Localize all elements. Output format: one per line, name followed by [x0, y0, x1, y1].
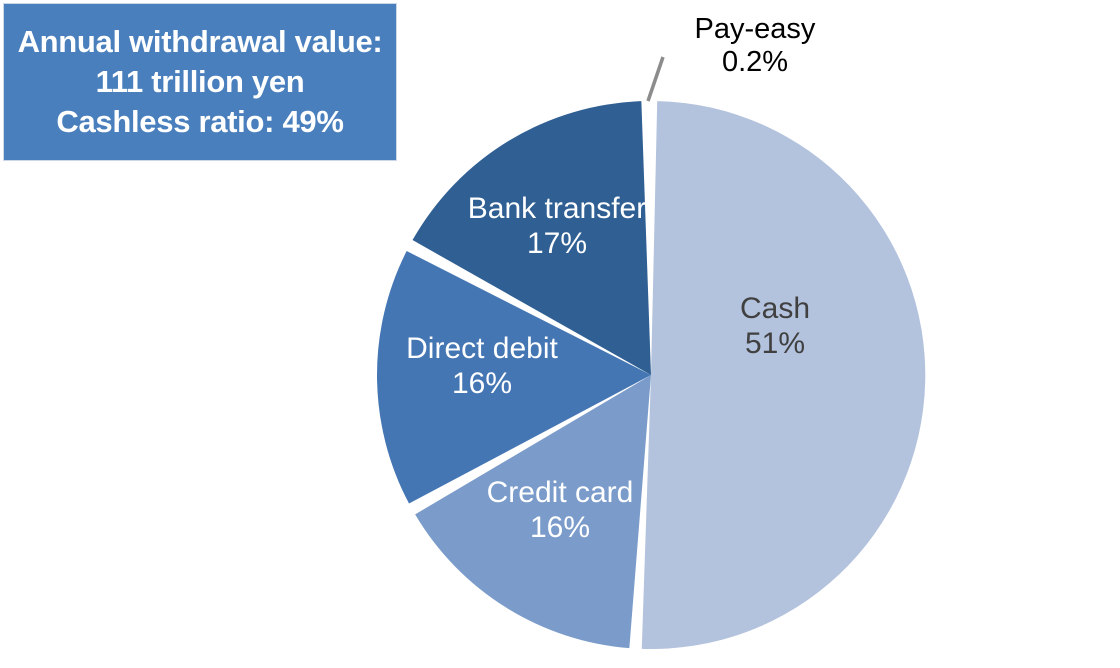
pie-slice-group [377, 101, 925, 649]
pie-chart-svg [0, 0, 1120, 668]
pie-chart: Cash 51% Credit card 16% Direct debit 16… [0, 0, 1120, 668]
pie-slice-cash[interactable] [642, 101, 926, 649]
pay-easy-leader-line [648, 57, 663, 101]
